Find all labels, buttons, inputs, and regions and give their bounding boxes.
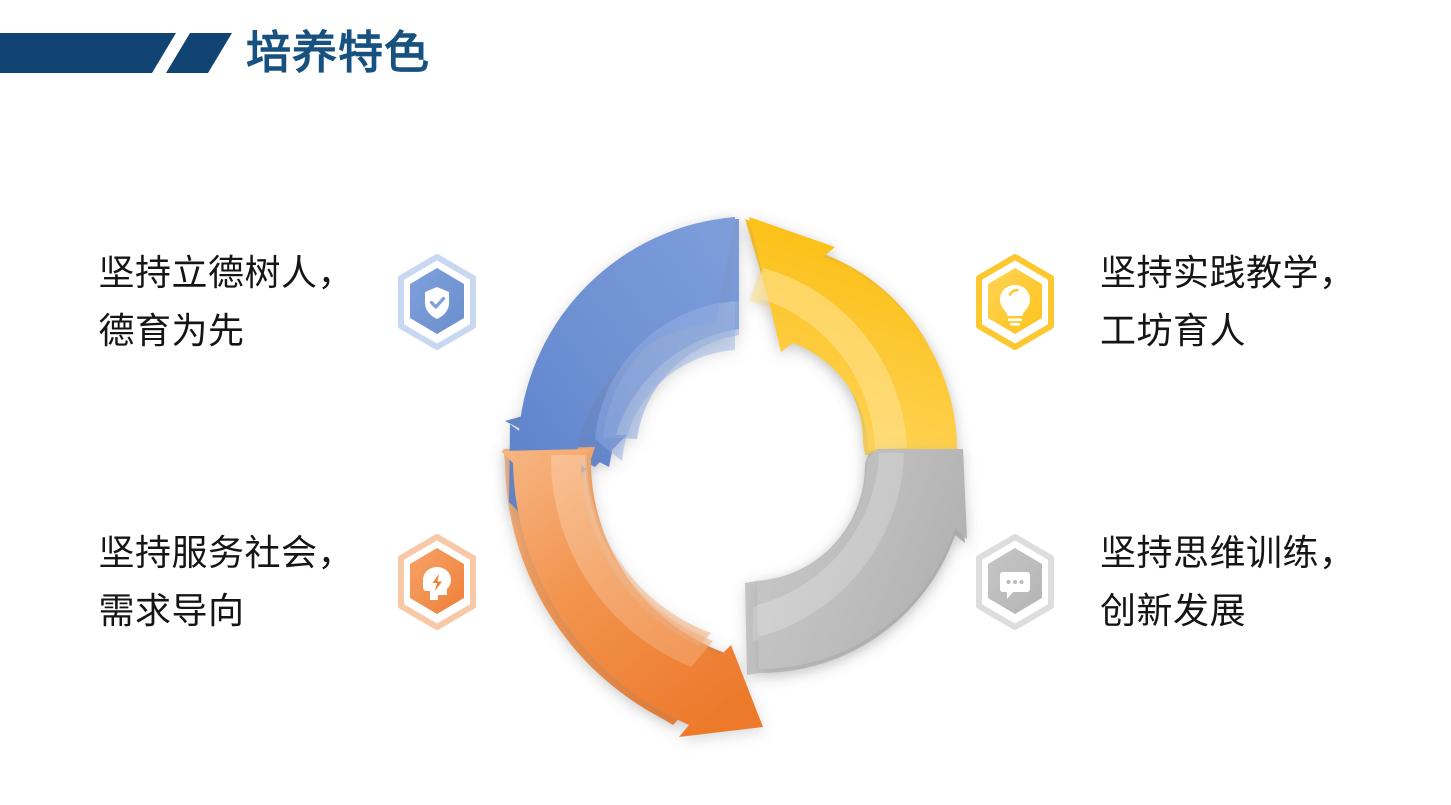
bulb-base-2	[1010, 323, 1020, 326]
feature-label-top-right: 坚持实践教学， 工坊育人	[1100, 244, 1356, 360]
arrow-yellow-final	[749, 217, 957, 451]
bulb-base-1	[1008, 319, 1022, 322]
bubble-dot-3	[1019, 580, 1023, 584]
bubble-dot-2	[1013, 580, 1017, 584]
brain-head-icon	[394, 534, 480, 630]
shield-check-icon	[394, 254, 480, 350]
cycle-diagram	[487, 205, 977, 695]
page-title: 培养特色	[246, 26, 430, 80]
feature-item-bottom-left[interactable]: 坚持服务社会， 需求导向	[60, 524, 480, 640]
header-accent-slash	[166, 33, 232, 73]
bubble-dot-1	[1006, 580, 1010, 584]
header-accent-shape	[0, 33, 232, 73]
chat-bubble-icon	[972, 534, 1058, 630]
feature-item-top-right[interactable]: 坚持实践教学， 工坊育人	[972, 244, 1392, 360]
header-accent-bar	[0, 33, 176, 73]
lightbulb-icon	[972, 254, 1058, 350]
slide-header: 培养特色	[0, 0, 1451, 110]
feature-label-bottom-right: 坚持思维训练， 创新发展	[1100, 524, 1356, 640]
arrow-gray-final	[757, 449, 967, 669]
feature-label-top-left: 坚持立德树人， 德育为先	[98, 244, 354, 360]
feature-item-top-left[interactable]: 坚持立德树人， 德育为先	[60, 244, 480, 360]
feature-item-bottom-right[interactable]: 坚持思维训练， 创新发展	[972, 524, 1392, 640]
feature-label-bottom-left: 坚持服务社会， 需求导向	[98, 524, 354, 640]
